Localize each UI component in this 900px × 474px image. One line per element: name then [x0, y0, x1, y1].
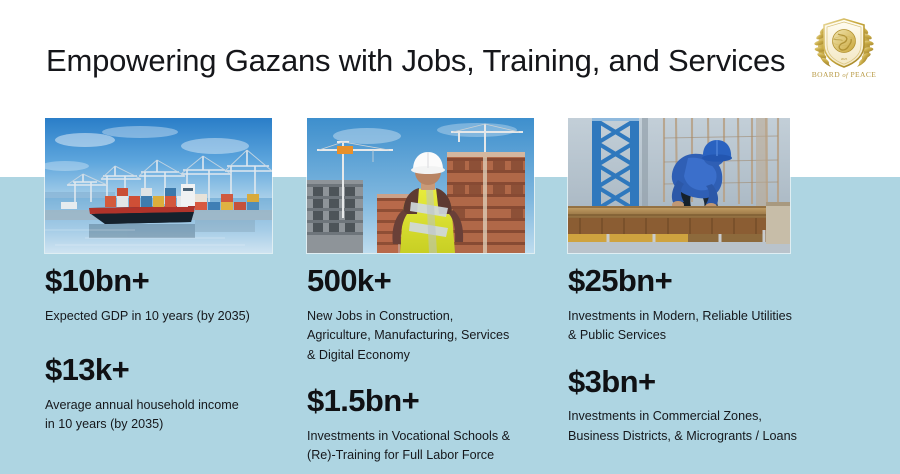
stat-desc-line: Average annual household income — [45, 396, 303, 416]
stat-block-utilities: $25bn+ Investments in Modern, Reliable U… — [568, 265, 868, 346]
stat-desc-line: Expected GDP in 10 years (by 2035) — [45, 307, 303, 327]
board-of-peace-logo: 2025 BOARD of PEACE — [802, 14, 886, 86]
stat-description: Investments in Modern, Reliable Utilitie… — [568, 307, 868, 346]
stat-desc-line: Investments in Vocational Schools & — [307, 427, 565, 447]
seal-year: 2025 — [841, 57, 848, 61]
spacer — [307, 365, 565, 385]
container-port-illustration — [45, 118, 272, 253]
stat-description: Expected GDP in 10 years (by 2035) — [45, 307, 303, 327]
stat-desc-line: (Re)-Training for Full Labor Force — [307, 446, 565, 466]
stat-description: New Jobs in Construction, Agriculture, M… — [307, 307, 565, 366]
stat-block-gdp: $10bn+ Expected GDP in 10 years (by 2035… — [45, 265, 303, 326]
logo-word-board: BOARD — [812, 70, 840, 79]
stat-block-commercial-zones: $3bn+ Investments in Commercial Zones, B… — [568, 366, 868, 447]
stat-desc-line: Agriculture, Manufacturing, Services — [307, 326, 565, 346]
stat-desc-line: Investments in Commercial Zones, — [568, 407, 868, 427]
seal-icon: 2025 — [802, 14, 886, 74]
slide-root: Empowering Gazans with Jobs, Training, a… — [0, 0, 900, 474]
stat-value: 500k+ — [307, 265, 565, 298]
container-port-photo — [45, 118, 272, 253]
stat-desc-line: Business Districts, & Microgrants / Loan… — [568, 427, 868, 447]
stats-column-2: 500k+ New Jobs in Construction, Agricult… — [307, 265, 565, 466]
page-title: Empowering Gazans with Jobs, Training, a… — [46, 43, 785, 79]
stat-value: $25bn+ — [568, 265, 868, 298]
stat-desc-line: & Public Services — [568, 326, 868, 346]
stats-column-1: $10bn+ Expected GDP in 10 years (by 2035… — [45, 265, 303, 435]
spacer — [45, 326, 303, 354]
stat-desc-line: Investments in Modern, Reliable Utilitie… — [568, 307, 868, 327]
stat-value: $1.5bn+ — [307, 385, 565, 418]
stat-desc-line: New Jobs in Construction, — [307, 307, 565, 327]
stat-description: Investments in Vocational Schools & (Re)… — [307, 427, 565, 466]
stat-desc-line: & Digital Economy — [307, 346, 565, 366]
stat-value: $13k+ — [45, 354, 303, 387]
construction-worker-photo — [307, 118, 534, 253]
stat-description: Investments in Commercial Zones, Busines… — [568, 407, 868, 446]
stats-column-3: $25bn+ Investments in Modern, Reliable U… — [568, 265, 868, 446]
stat-desc-line: in 10 years (by 2035) — [45, 415, 303, 435]
scaffolding-worker-illustration — [568, 118, 790, 253]
stat-block-household-income: $13k+ Average annual household income in… — [45, 354, 303, 435]
construction-worker-illustration — [307, 118, 534, 253]
stat-description: Average annual household income in 10 ye… — [45, 396, 303, 435]
stat-value: $3bn+ — [568, 366, 868, 399]
spacer — [568, 346, 868, 366]
logo-word-peace: PEACE — [850, 70, 876, 79]
stat-block-vocational: $1.5bn+ Investments in Vocational School… — [307, 385, 565, 466]
stat-value: $10bn+ — [45, 265, 303, 298]
stat-block-new-jobs: 500k+ New Jobs in Construction, Agricult… — [307, 265, 565, 365]
scaffolding-worker-photo — [568, 118, 790, 253]
logo-wordmark: BOARD of PEACE — [802, 70, 886, 79]
slide-header: Empowering Gazans with Jobs, Training, a… — [0, 0, 900, 112]
logo-word-of: of — [842, 72, 848, 79]
